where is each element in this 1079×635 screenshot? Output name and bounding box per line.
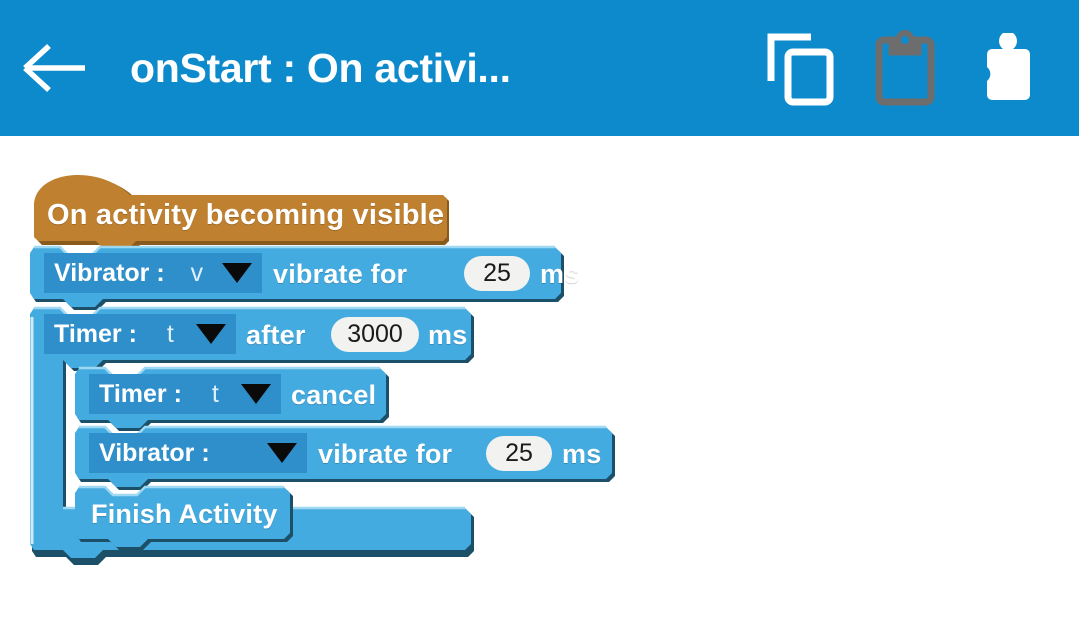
vibrate-duration-field-2[interactable]: 25 — [486, 436, 552, 471]
timer-component-dropdown-after[interactable]: Timer : t — [44, 314, 236, 354]
vibrate-for-label-1: vibrate for — [273, 259, 407, 290]
copy-icon — [767, 31, 835, 105]
component-type-label: Vibrator : — [99, 439, 210, 468]
paste-clipboard-icon — [874, 30, 936, 106]
vibrate-duration-value-2: 25 — [505, 439, 533, 468]
hat-block-label: On activity becoming visible — [47, 199, 444, 232]
vibrate-unit-label-2: ms — [562, 439, 601, 470]
vibrator-vibrate-block-2[interactable]: Vibrator : vibrate for 25 ms — [75, 424, 619, 488]
back-button[interactable] — [0, 0, 108, 136]
timer-delay-value: 3000 — [347, 320, 403, 349]
component-instance-value: v — [191, 259, 204, 288]
cancel-label: cancel — [291, 380, 376, 411]
component-type-label: Timer : — [99, 380, 182, 409]
chevron-down-icon — [196, 324, 226, 344]
vibrator-vibrate-block-1[interactable]: Vibrator : v vibrate for 25 ms — [30, 244, 568, 308]
timer-delay-field[interactable]: 3000 — [331, 317, 419, 352]
arrow-left-icon — [21, 42, 87, 94]
vibrate-duration-field-1[interactable]: 25 — [464, 256, 530, 291]
on-activity-becoming-visible-block[interactable]: On activity becoming visible — [30, 173, 454, 255]
timer-component-dropdown-cancel[interactable]: Timer : t — [89, 374, 281, 414]
after-unit-label: ms — [428, 320, 467, 351]
vibrator-component-dropdown-1[interactable]: Vibrator : v — [44, 253, 262, 293]
vibrate-for-label-2: vibrate for — [318, 439, 452, 470]
chevron-down-icon — [222, 263, 252, 283]
component-instance-value: t — [212, 380, 219, 409]
finish-activity-label: Finish Activity — [91, 499, 278, 530]
puzzle-piece-icon — [977, 31, 1041, 105]
after-label: after — [246, 320, 306, 351]
component-instance-value: t — [167, 320, 174, 349]
component-type-label: Vibrator : — [54, 259, 165, 288]
finish-activity-block[interactable]: Finish Activity — [75, 484, 297, 548]
component-type-label: Timer : — [54, 320, 137, 349]
vibrate-unit-label-1: ms — [540, 259, 579, 290]
page-title: onStart : On activi... — [130, 45, 511, 92]
vibrator-component-dropdown-2[interactable]: Vibrator : — [89, 433, 307, 473]
timer-cancel-block[interactable]: Timer : t cancel — [75, 365, 393, 429]
copy-blocks-button[interactable] — [749, 0, 853, 136]
add-block-button[interactable] — [957, 0, 1061, 136]
chevron-down-icon — [241, 384, 271, 404]
blocks-canvas[interactable]: On activity becoming visible Vibrator : … — [0, 136, 1079, 635]
paste-blocks-button[interactable] — [853, 0, 957, 136]
app-bar: onStart : On activi... — [0, 0, 1079, 136]
chevron-down-icon — [267, 443, 297, 463]
vibrate-duration-value-1: 25 — [483, 259, 511, 288]
